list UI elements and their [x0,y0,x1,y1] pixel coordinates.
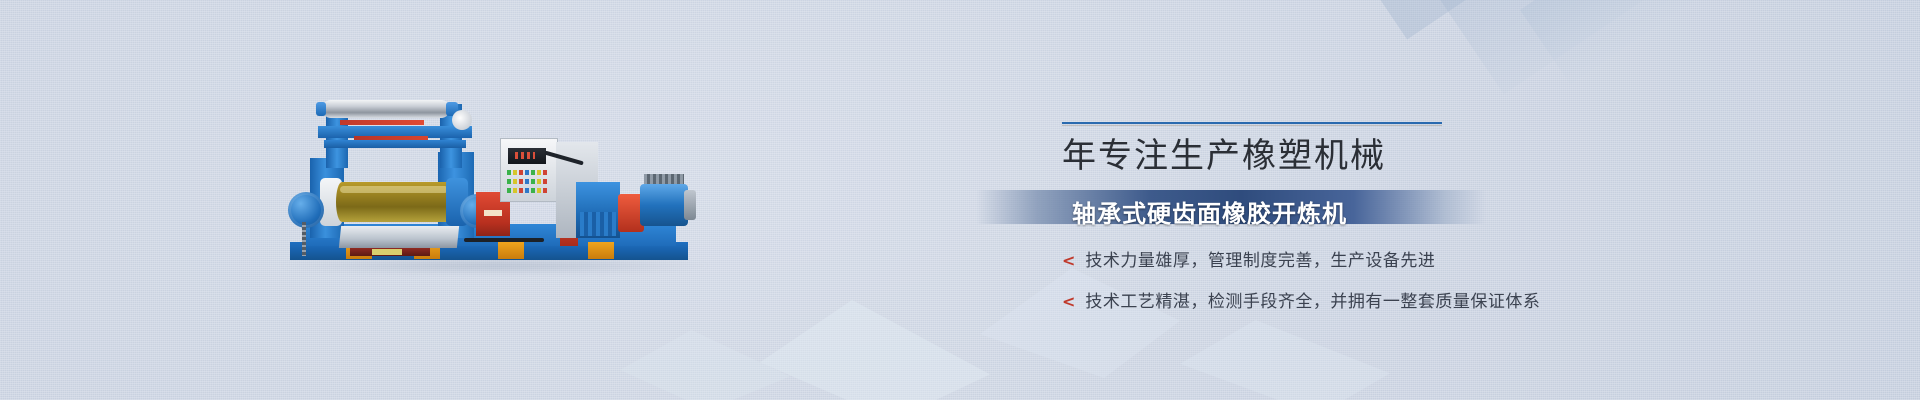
decorative-ribbon-3 [1520,0,1736,85]
machine-control-panel-readout [515,152,535,159]
machine-red-crossbar [340,120,424,125]
headline-divider [1062,122,1442,124]
machine-foot [588,242,614,259]
machine-stock-blender-roll [322,100,450,118]
machine-foot [498,242,524,259]
subtitle-text: 轴承式硬齿面橡胶开炼机 [1072,194,1347,229]
machine-control-button-row [507,170,547,175]
machine-top-beam-lower [324,140,466,148]
chevron-left-icon: < [1062,294,1075,310]
chevron-left-icon: < [1062,253,1075,269]
feature-bullet-item: < 技术力量雄厚，管理制度完善，生产设备先进 [1062,246,1582,271]
machine-control-button-row [507,188,547,193]
machine-roll-highlight [340,186,448,193]
machine-fan [452,110,472,130]
promo-banner: 年专注生产橡塑机械 轴承式硬齿面橡胶开炼机 < 技术力量雄厚，管理制度完善，生产… [0,0,1920,400]
headline-divider-shadow [1062,125,1442,126]
feature-bullet-text: 技术工艺精湛，检测手段齐全，并拥有一整套质量保证体系 [1085,287,1540,312]
feature-bullet-text: 技术力量雄厚，管理制度完善，生产设备先进 [1085,246,1435,271]
decorative-ribbon-1 [1340,0,1689,39]
machine-red-crossbar-lower [354,136,428,140]
machine-cable-lower [464,238,544,242]
machine-motor-endcap [684,190,696,220]
machine-gearbox-ribs [580,212,616,236]
decorative-polygon-1 [760,300,990,400]
decorative-polygon-4 [620,330,790,400]
machine-stock-tray [339,226,459,248]
feature-bullet-list: < 技术力量雄厚，管理制度完善，生产设备先进 < 技术工艺精湛，检测手段齐全，并… [1062,246,1582,328]
machine-top-roll-cap-left [316,102,326,116]
product-image-rubber-open-mixing-mill [288,96,698,264]
banner-headline: 年专注生产橡塑机械 [1062,128,1482,177]
machine-guard-label [484,210,502,216]
feature-bullet-item: < 技术工艺精湛，检测手段齐全，并拥有一整套质量保证体系 [1062,287,1582,312]
machine-safety-chain [302,222,306,256]
machine-bearing-drum-left [288,192,324,228]
machine-motor [640,184,688,226]
machine-nameplate [372,249,402,255]
decorative-ribbon-2 [1420,0,1711,94]
decorative-polygon-3 [1180,320,1390,400]
machine-control-button-row [507,179,547,184]
